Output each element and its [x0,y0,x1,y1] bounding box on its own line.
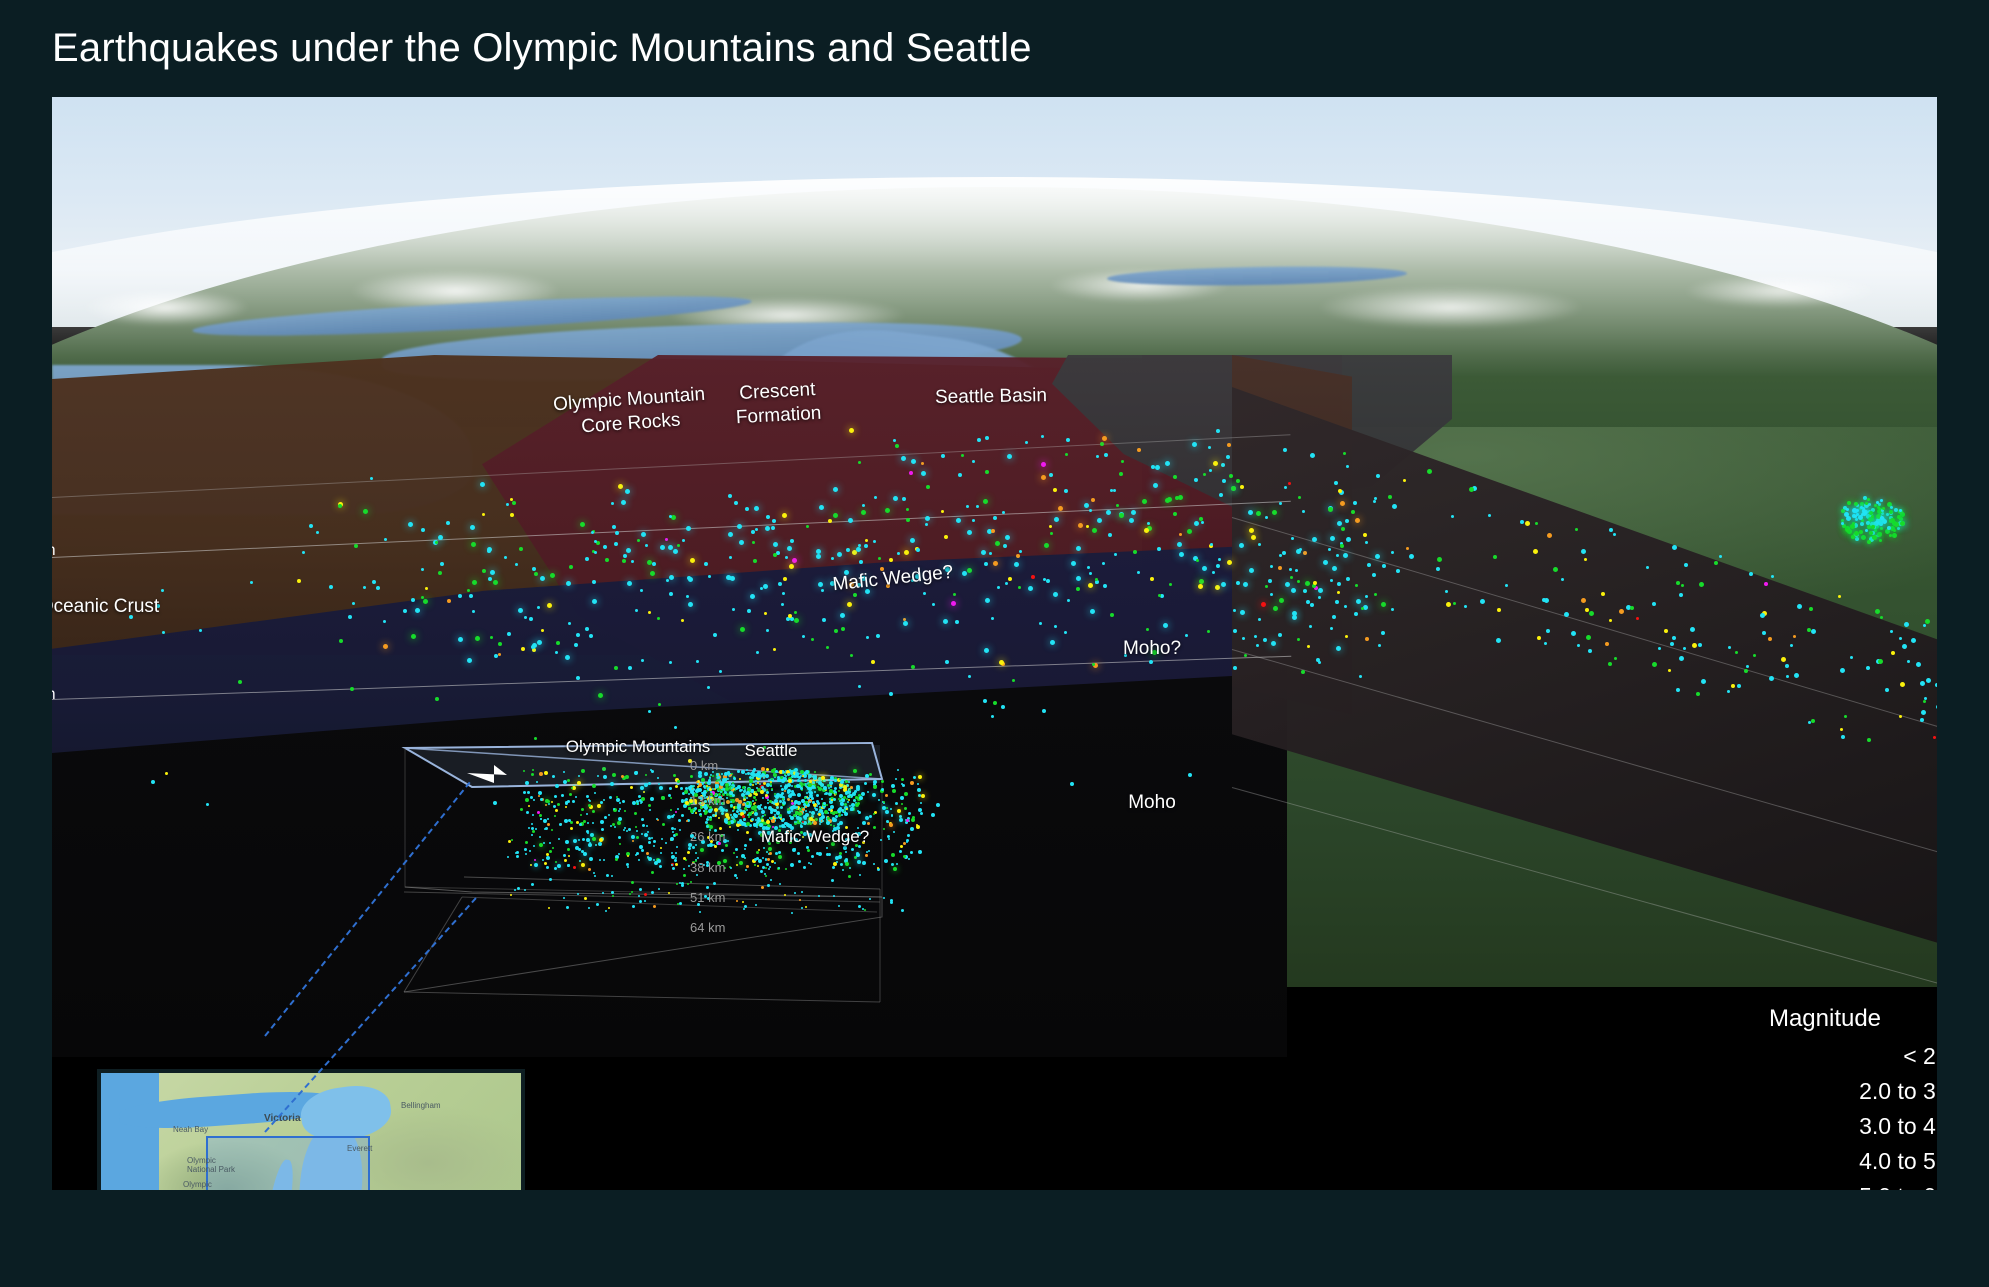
earthquake-dot [816,800,819,803]
earthquake-dot [631,835,635,839]
earthquake-dot [804,797,806,799]
earthquake-dot [916,825,920,829]
earthquake-dot [554,795,557,798]
earthquake-dot [746,791,750,795]
earthquake-dot [565,806,567,808]
earthquake-dot [851,848,854,851]
earthquake-dot [904,792,908,796]
earthquake-dot [869,773,872,776]
earthquake-dot [557,864,561,868]
earthquake-dot [770,785,772,787]
legend-item-label: 4.0 to 5.0 [1859,1148,1937,1175]
earthquake-dot [638,895,640,897]
earthquake-dot [838,855,842,859]
earthquake-dot [712,788,714,790]
earthquake-dot [602,892,604,894]
earthquake-dot [555,861,557,863]
earthquake-dot [845,851,847,853]
earthquake-dot [749,838,752,841]
earthquake-dot [516,855,519,858]
earthquake-dot [846,798,848,800]
legend-item[interactable]: 4.0 to 5.0 [1692,1148,1937,1175]
earthquake-dot [603,799,605,801]
earthquake-dot [592,784,596,788]
earthquake-dot [840,863,843,866]
earthquake-dot [819,806,821,808]
earthquake-dot [641,833,643,835]
earthquake-dot [780,776,783,779]
earthquake-dot [618,836,621,839]
earthquake-dot [597,775,599,777]
earthquake-dot [767,858,770,861]
earthquake-dot [787,798,790,801]
earthquake-dot [709,818,712,821]
earthquake-dot [877,867,879,869]
earthquake-dot [901,909,904,912]
earthquake-dot [549,878,552,881]
earthquake-dot [868,850,870,852]
earthquake-dot [555,784,559,788]
earthquake-dot [659,865,662,868]
earthquake-dot [557,803,560,806]
earthquake-dot [785,868,787,870]
earthquake-dot [891,814,893,816]
earthquake-dot [670,809,672,811]
earthquake-dot [744,844,747,847]
earthquake-dot [546,856,550,860]
earthquake-dot [756,851,759,854]
earthquake-dot [774,814,776,816]
earthquake-dot [821,798,823,800]
earthquake-dot [855,803,859,807]
earthquake-dot [559,823,562,826]
subbox-depth-tick: 64 km [690,920,725,935]
earthquake-dot [597,804,601,808]
legend-item[interactable]: < 2.0 [1692,1043,1937,1070]
locator-inset-map[interactable]: VictoriaNeah BayOlympicNational ParkOlym… [97,1069,525,1190]
earthquake-dot [797,779,800,782]
inset-place-label: Victoria [264,1113,301,1124]
inset-place-label-line: National Park [187,1165,235,1174]
earthquake-dot [648,782,651,785]
earthquake-dot [884,859,888,863]
earthquake-dot [836,861,838,863]
earthquake-dot [835,793,837,795]
earthquake-dot [767,799,769,801]
earthquake-dot [732,795,734,797]
earthquake-dot [859,796,863,800]
legend-item[interactable]: 3.0 to 4.0 [1692,1113,1937,1140]
earthquake-dot [911,818,915,822]
earthquake-dot [762,857,764,859]
earthquake-dot [889,823,893,827]
earthquake-dot [563,854,566,857]
earthquake-dot [616,798,620,802]
earthquake-dot [653,905,656,908]
visualization-page: Earthquakes under the Olympic Mountains … [0,0,1989,1287]
earthquake-dot [767,802,769,804]
inset-place-label: Bellingham [401,1101,441,1110]
earthquake-dot [779,814,782,817]
earthquake-dot [539,843,543,847]
earthquake-dot [632,801,636,805]
subbox-label-mafic-wedge: Mafic Wedge? [761,827,869,847]
earthquake-dot [706,790,708,792]
inset-place-label-line: Neah Bay [173,1125,208,1134]
earthquake-dot [523,791,526,794]
earthquake-dot [798,812,802,816]
earthquake-dot [744,796,746,798]
subbox-depth-tick: 51 km [690,890,725,905]
earthquake-dot [648,804,651,807]
earthquake-dot [693,810,695,812]
earthquake-dot [565,840,569,844]
earthquake-dot [849,867,851,869]
inset-place-label: OlympicNational Park [187,1156,235,1174]
earthquake-dot [766,863,769,866]
earthquake-dot [551,829,553,831]
earthquake-dot [824,810,828,814]
earthquake-dot [897,809,901,813]
earthquake-dot [641,797,645,801]
earthquake-dot [661,796,665,800]
earthquake-dot [675,852,677,854]
earthquake-dot [900,845,903,848]
earthquake-dot [673,774,676,777]
earthquake-dot [536,781,538,783]
earthquake-dot [891,853,895,857]
earthquake-dot [553,805,556,808]
earthquake-dot [539,836,541,838]
inset-place-label-line: Olympic [183,1180,235,1189]
earthquake-dot [899,818,903,822]
earthquake-dot [621,775,624,778]
earthquake-dot [757,865,759,867]
earthquake-dot [883,897,885,899]
earthquake-dot [779,883,781,885]
earthquake-dot [886,820,889,823]
earthquake-dot [833,895,835,897]
earthquake-dot [695,812,697,814]
earthquake-dot [677,780,680,783]
earthquake-dot [830,776,834,780]
earthquake-dot [813,821,817,825]
earthquake-dot [811,811,815,815]
earthquake-dot [771,788,773,790]
mount-rainier-arrow-icon [1932,752,1937,862]
page-title: Earthquakes under the Olympic Mountains … [52,26,1032,71]
earthquake-dot [747,814,749,816]
earthquake-dot [712,814,715,817]
earthquake-dot [650,797,654,801]
earthquake-dot [704,812,707,815]
earthquake-3d-visualization[interactable]: Olympic MountainCore RocksCrescentFormat… [52,97,1937,1190]
earthquake-dot [670,837,674,841]
earthquake-dot [671,855,675,859]
earthquake-dot [829,781,833,785]
earthquake-dot [850,807,854,811]
earthquake-dot [531,827,534,830]
earthquake-dot [759,823,763,827]
earthquake-dot [721,849,724,852]
earthquake-dot [901,783,903,785]
earthquake-dot [586,830,589,833]
earthquake-dot [873,813,875,815]
earthquake-dot [527,791,530,794]
earthquake-dot [809,817,813,821]
earthquake-dot [692,846,695,849]
earthquake-dot [826,821,830,825]
earthquake-dot [687,851,690,854]
earthquake-dot [592,837,596,841]
earthquake-dot [746,769,748,771]
earthquake-dot [707,781,711,785]
earthquake-dot [891,784,895,788]
earthquake-dot [899,815,902,818]
earthquake-dot [760,870,763,873]
inset-place-label-line: Olympic [187,1156,235,1165]
earthquake-dot [756,787,758,789]
earthquake-dot [890,901,893,904]
earthquake-dot [864,909,866,911]
earthquake-dot [681,799,684,802]
earthquake-dot [554,815,556,817]
earthquake-dot [688,786,692,790]
earthquake-dot [883,801,885,803]
earthquake-dot [886,807,888,809]
earthquake-dot [695,852,697,854]
earthquake-dot [855,797,857,799]
earthquake-dot [764,806,767,809]
earthquake-dot [885,810,889,814]
subbox-label-olympic-mountains: Olympic Mountains [566,737,711,757]
earthquake-dot [845,858,848,861]
earthquake-dot [778,867,780,869]
earthquake-dot [883,828,885,830]
earthquake-dot [644,783,648,787]
earthquake-dot [651,891,654,894]
earthquake-dot [755,799,757,801]
earthquake-dot [813,776,817,780]
earthquake-dot [699,911,701,913]
earthquake-dot [732,782,734,784]
earthquake-dot [810,863,812,865]
legend-rows: < 2.02.0 to 3.03.0 to 4.04.0 to 5.05.0 t… [1692,1043,1937,1190]
earthquake-dot [829,798,831,800]
earthquake-dot [660,847,662,849]
earthquake-dot [841,809,844,812]
earthquake-dot [906,819,909,822]
earthquake-dot [547,818,549,820]
earthquake-dot [812,781,815,784]
earthquake-dot [824,793,826,795]
earthquake-dot [912,816,915,819]
earthquake-dot [532,830,535,833]
earthquake-dot [918,850,922,854]
earthquake-dot [736,856,738,858]
earthquake-dot [676,846,678,848]
earthquake-dot [675,811,677,813]
earthquake-dot [725,844,728,847]
earthquake-dot [873,863,875,865]
earthquake-dot [807,849,810,852]
earthquake-dot [797,852,800,855]
earthquake-dot [733,818,735,820]
earthquake-dot [766,783,770,787]
earthquake-dot [787,773,790,776]
earthquake-dot [774,799,778,803]
earthquake-dot [612,823,615,826]
earthquake-dot [826,853,829,856]
inset-3d-earthquake-box[interactable]: Olympic MountainsSeattleMafic Wedge?0 km… [52,97,1937,1190]
earthquake-dot [773,768,776,771]
earthquake-dot [918,808,922,812]
earthquake-dot [688,847,691,850]
earthquake-dot [790,863,794,867]
earthquake-dot [563,771,565,773]
earthquake-dot [649,809,651,811]
subbox-depth-tick: 0 km [690,758,718,773]
earthquake-dot [739,809,742,812]
earthquake-dot [809,801,811,803]
earthquake-dot [608,814,610,816]
earthquake-dot [725,813,729,817]
earthquake-dot [583,820,586,823]
earthquake-dot [748,816,750,818]
earthquake-dot [784,787,787,790]
earthquake-dot [913,776,916,779]
earthquake-dot [735,848,738,851]
earthquake-dot [809,780,812,783]
earthquake-dot [733,813,736,816]
earthquake-dot [838,905,840,907]
earthquake-dot [795,772,799,776]
earthquake-dot [626,830,628,832]
earthquake-dot [707,844,710,847]
earthquake-dot [517,887,520,890]
earthquake-dot [554,867,557,870]
earthquake-dot [676,883,678,885]
earthquake-dot [799,820,801,822]
earthquake-dot [808,791,810,793]
earthquake-dot [548,907,550,909]
earthquake-dot [730,867,732,869]
earthquake-dot [857,810,859,812]
earthquake-dot [832,866,835,869]
magnitude-legend: Magnitude < 2.02.0 to 3.03.0 to 4.04.0 t… [1692,1005,1937,1190]
earthquake-dot [787,810,791,814]
earthquake-dot [613,808,615,810]
earthquake-dot [567,848,570,851]
earthquake-dot [766,768,769,771]
earthquake-dot [823,802,826,805]
inset-place-label: Everett [347,1144,372,1153]
legend-item[interactable]: 2.0 to 3.0 [1692,1078,1937,1105]
earthquake-dot [637,803,639,805]
earthquake-dot [755,773,759,777]
earthquake-dot [718,808,720,810]
earthquake-dot [510,894,512,896]
earthquake-dot [646,852,649,855]
earthquake-dot [789,815,791,817]
legend-item[interactable]: 5.0 to 6.0 [1692,1183,1937,1190]
earthquake-dot [838,814,841,817]
earthquake-dot [729,826,731,828]
earthquake-dot [741,854,745,858]
earthquake-dot [639,845,643,849]
earthquake-dot [835,811,838,814]
inset-place-label: Neah Bay [173,1125,208,1134]
earthquake-dot [908,812,911,815]
inset-place-label-line: Everett [347,1144,372,1153]
legend-item-label: 5.0 to 6.0 [1859,1183,1937,1190]
earthquake-dot [636,830,638,832]
earthquake-dot [768,868,770,870]
legend-title: Magnitude [1692,1005,1937,1033]
earthquake-dot [811,855,814,858]
earthquake-dot [595,844,597,846]
earthquake-dot [713,882,716,885]
earthquake-dot [648,841,651,844]
earthquake-dot [789,769,791,771]
earthquake-dot [917,788,921,792]
earthquake-dot [657,859,661,863]
earthquake-dot [830,824,832,826]
earthquake-dot [845,862,849,866]
earthquake-dot [681,882,684,885]
earthquake-dot [603,775,607,779]
earthquake-dot [675,833,678,836]
earthquake-dot [778,851,781,854]
earthquake-dot [544,828,546,830]
earthquake-dot [765,794,768,797]
subbox-depth-tick: 26 km [690,829,725,844]
earthquake-dot [611,875,613,877]
earthquake-dot [610,782,614,786]
earthquake-dot [790,793,792,795]
earthquake-dot [678,819,681,822]
earthquake-dot [804,779,807,782]
earthquake-dot [768,779,770,781]
earthquake-dot [604,816,607,819]
legend-item-label: 2.0 to 3.0 [1859,1078,1937,1105]
earthquake-dot [757,805,761,809]
earthquake-dot [551,801,553,803]
earthquake-dot [547,823,550,826]
earthquake-dot [805,806,807,808]
earthquake-dot [873,785,877,789]
earthquake-dot [792,817,794,819]
earthquake-dot [601,828,604,831]
earthquake-dot [811,797,814,800]
earthquake-dot [592,810,595,813]
earthquake-dot [531,883,534,886]
earthquake-dot [763,777,765,779]
earthquake-dot [552,775,555,778]
earthquake-dot [752,784,754,786]
legend-item-label: 3.0 to 4.0 [1859,1113,1937,1140]
earthquake-dot [545,804,547,806]
earthquake-dot [802,821,804,823]
earthquake-dot [791,912,793,914]
earthquake-dot [864,782,867,785]
inset-place-label-line: National [183,1189,235,1190]
earthquake-dot [603,859,605,861]
earthquake-dot [808,783,812,787]
inset-place-label-line: Bellingham [401,1101,441,1110]
earthquake-dot [761,767,765,771]
earthquake-dot [796,808,798,810]
